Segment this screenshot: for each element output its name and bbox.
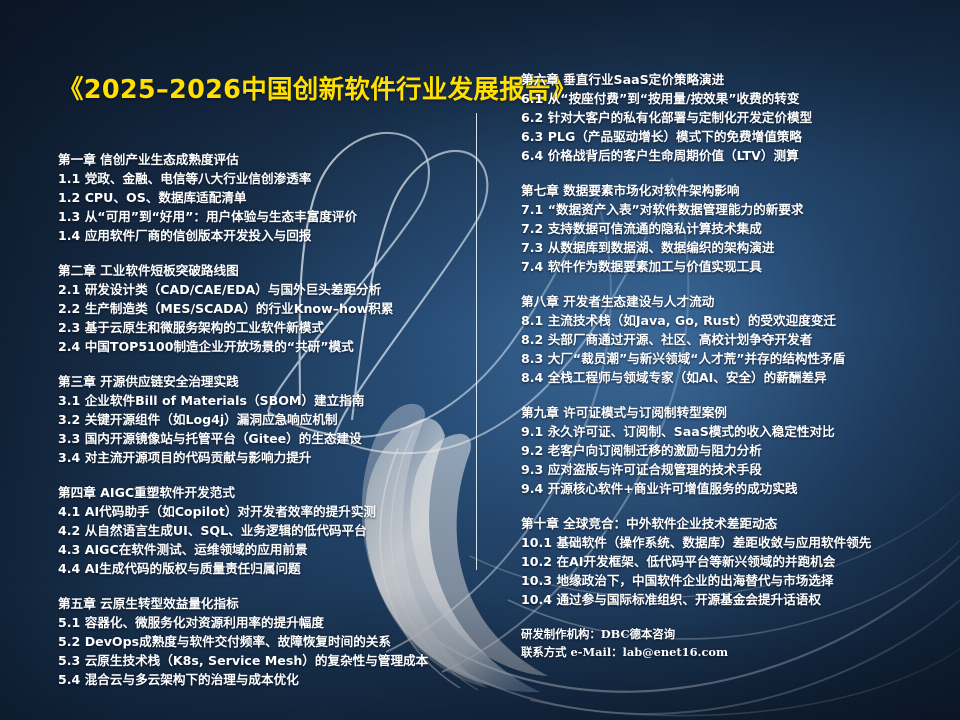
chapter-item: 2.4 中国TOP5100制造企业开放场景的“共研”模式 (58, 337, 466, 356)
chapter-item: 3.1 企业软件Bill of Materials（SBOM）建立指南 (58, 391, 466, 410)
chapter-item: 10.3 地缘政治下，中国软件企业的出海替代与市场选择 (521, 571, 941, 590)
chapter-item: 3.2 关键开源组件（如Log4j）漏洞应急响应机制 (58, 410, 466, 429)
chapter-item: 8.1 主流技术栈（如Java, Go, Rust）的受欢迎度变迁 (521, 311, 941, 330)
chapter-item: 10.2 在AI开发框架、低代码平台等新兴领域的并跑机会 (521, 552, 941, 571)
chapter-title: 第七章 数据要素市场化对软件架构影响 (521, 181, 941, 200)
chapter-title: 第六章 垂直行业SaaS定价策略演进 (521, 70, 941, 89)
chapter-item: 2.3 基于云原生和微服务架构的工业软件新模式 (58, 318, 466, 337)
chapter-item: 4.1 AI代码助手（如Copilot）对开发者效率的提升实测 (58, 502, 466, 521)
chapter-item: 7.1 “数据资产入表”对软件数据管理能力的新要求 (521, 200, 941, 219)
chapter-item: 9.4 开源核心软件+商业许可增值服务的成功实践 (521, 479, 941, 498)
chapter-item: 1.3 从“可用”到“好用”：用户体验与生态丰富度评价 (58, 207, 466, 226)
chapter-block: 第六章 垂直行业SaaS定价策略演进 6.1 从“按座付费”到“按用量/按效果”… (521, 70, 941, 165)
chapter-item: 10.1 基础软件（操作系统、数据库）差距收敛与应用软件领先 (521, 533, 941, 552)
chapter-title: 第三章 开源供应链安全治理实践 (58, 372, 466, 391)
chapter-item: 5.3 云原生技术栈（K8s, Service Mesh）的复杂性与管理成本 (58, 651, 466, 670)
chapter-item: 6.1 从“按座付费”到“按用量/按效果”收费的转变 (521, 89, 941, 108)
chapter-item: 4.3 AIGC在软件测试、运维领域的应用前景 (58, 540, 466, 559)
chapter-block: 第八章 开发者生态建设与人才流动 8.1 主流技术栈（如Java, Go, Ru… (521, 292, 941, 387)
chapter-block: 第十章 全球竞合：中外软件企业技术差距动态 10.1 基础软件（操作系统、数据库… (521, 514, 941, 609)
chapter-title: 第九章 许可证模式与订阅制转型案例 (521, 403, 941, 422)
chapter-item: 2.2 生产制造类（MES/SCADA）的行业Know–how积累 (58, 299, 466, 318)
chapter-item: 9.1 永久许可证、订阅制、SaaS模式的收入稳定性对比 (521, 422, 941, 441)
chapter-item: 6.4 价格战背后的客户生命周期价值（LTV）测算 (521, 146, 941, 165)
chapter-title: 第五章 云原生转型效益量化指标 (58, 594, 466, 613)
chapter-item: 3.4 对主流开源项目的代码贡献与影响力提升 (58, 448, 466, 467)
chapter-item: 1.1 党政、金融、电信等八大行业信创渗透率 (58, 169, 466, 188)
footer-contact: 联系方式 e-Mail：lab@enet16.com (521, 643, 941, 661)
chapter-title: 第八章 开发者生态建设与人才流动 (521, 292, 941, 311)
chapter-item: 5.4 混合云与多云架构下的治理与成本优化 (58, 670, 466, 689)
chapter-item: 9.2 老客户向订阅制迁移的激励与阻力分析 (521, 441, 941, 460)
chapter-block: 第五章 云原生转型效益量化指标 5.1 容器化、微服务化对资源利用率的提升幅度 … (58, 594, 466, 689)
chapter-item: 9.3 应对盗版与许可证合规管理的技术手段 (521, 460, 941, 479)
chapter-item: 7.3 从数据库到数据湖、数据编织的架构演进 (521, 238, 941, 257)
chapter-title: 第一章 信创产业生态成熟度评估 (58, 150, 466, 169)
footer-block: 研发制作机构：DBC德本咨询 联系方式 e-Mail：lab@enet16.co… (521, 625, 941, 661)
report-slide: 《2025–2026中国创新软件行业发展报告》 第一章 信创产业生态成熟度评估 … (0, 0, 960, 720)
chapter-item: 8.2 头部厂商通过开源、社区、高校计划争夺开发者 (521, 330, 941, 349)
page-title: 《2025–2026中国创新软件行业发展报告》 (58, 69, 577, 106)
chapter-item: 10.4 通过参与国际标准组织、开源基金会提升话语权 (521, 590, 941, 609)
chapter-item: 5.2 DevOps成熟度与软件交付频率、故障恢复时间的关系 (58, 632, 466, 651)
chapter-item: 4.4 AI生成代码的版权与质量责任归属问题 (58, 559, 466, 578)
chapter-item: 1.4 应用软件厂商的信创版本开发投入与回报 (58, 226, 466, 245)
chapter-item: 6.2 针对大客户的私有化部署与定制化开发定价模型 (521, 108, 941, 127)
chapter-title: 第四章 AIGC重塑软件开发范式 (58, 483, 466, 502)
footer-organization: 研发制作机构：DBC德本咨询 (521, 625, 941, 643)
chapter-block: 第九章 许可证模式与订阅制转型案例 9.1 永久许可证、订阅制、SaaS模式的收… (521, 403, 941, 498)
chapter-title: 第十章 全球竞合：中外软件企业技术差距动态 (521, 514, 941, 533)
chapter-block: 第七章 数据要素市场化对软件架构影响 7.1 “数据资产入表”对软件数据管理能力… (521, 181, 941, 276)
chapter-item: 3.3 国内开源镜像站与托管平台（Gitee）的生态建设 (58, 429, 466, 448)
chapter-item: 6.3 PLG（产品驱动增长）模式下的免费增值策略 (521, 127, 941, 146)
right-column: 第六章 垂直行业SaaS定价策略演进 6.1 从“按座付费”到“按用量/按效果”… (521, 70, 941, 661)
chapter-item: 4.2 从自然语言生成UI、SQL、业务逻辑的低代码平台 (58, 521, 466, 540)
chapter-title: 第二章 工业软件短板突破路线图 (58, 261, 466, 280)
chapter-block: 第三章 开源供应链安全治理实践 3.1 企业软件Bill of Material… (58, 372, 466, 467)
chapter-item: 8.4 全栈工程师与领域专家（如AI、安全）的薪酬差异 (521, 368, 941, 387)
column-divider (476, 113, 477, 570)
chapter-block: 第二章 工业软件短板突破路线图 2.1 研发设计类（CAD/CAE/EDA）与国… (58, 261, 466, 356)
left-column: 第一章 信创产业生态成熟度评估 1.1 党政、金融、电信等八大行业信创渗透率 1… (58, 150, 466, 689)
chapter-item: 7.2 支持数据可信流通的隐私计算技术集成 (521, 219, 941, 238)
chapter-item: 1.2 CPU、OS、数据库适配清单 (58, 188, 466, 207)
chapter-item: 2.1 研发设计类（CAD/CAE/EDA）与国外巨头差距分析 (58, 280, 466, 299)
chapter-block: 第四章 AIGC重塑软件开发范式 4.1 AI代码助手（如Copilot）对开发… (58, 483, 466, 578)
chapter-item: 8.3 大厂“裁员潮”与新兴领域“人才荒”并存的结构性矛盾 (521, 349, 941, 368)
chapter-item: 5.1 容器化、微服务化对资源利用率的提升幅度 (58, 613, 466, 632)
chapter-block: 第一章 信创产业生态成熟度评估 1.1 党政、金融、电信等八大行业信创渗透率 1… (58, 150, 466, 245)
chapter-item: 7.4 软件作为数据要素加工与价值实现工具 (521, 257, 941, 276)
